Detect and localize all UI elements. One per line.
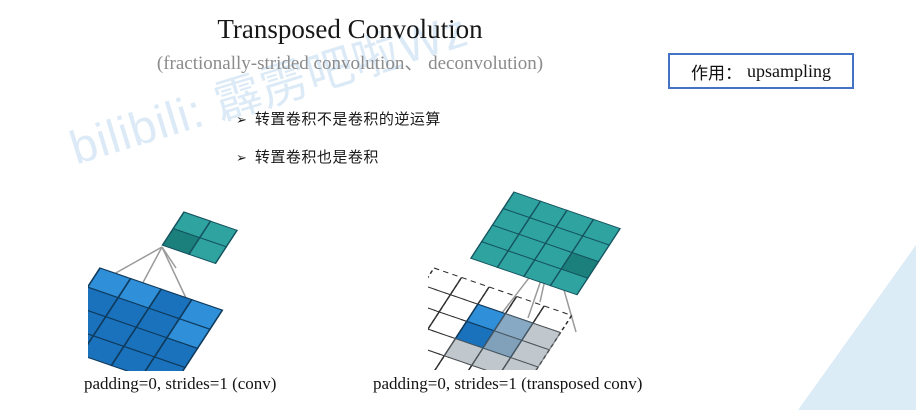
bullet-item-label: 转置卷积也是卷积 [255, 146, 379, 167]
bullet-item: ➢ 转置卷积也是卷积 [236, 146, 441, 167]
bullet-arrow-icon: ➢ [236, 113, 247, 128]
transposed-conv-diagram [428, 190, 648, 370]
upsampling-callout-box: 作用： upsampling [668, 53, 854, 89]
conv-diagram [88, 206, 288, 371]
bullet-item: ➢ 转置卷积不是卷积的逆运算 [236, 108, 441, 129]
conv-output-grid [162, 212, 237, 263]
bullet-item-label: 转置卷积不是卷积的逆运算 [255, 108, 441, 129]
transposed-conv-diagram-caption: padding=0, strides=1 (transposed conv) [373, 374, 642, 394]
transposed-conv-output-grid [471, 192, 620, 295]
callout-label-cn: 作用： [691, 59, 742, 84]
slide-canvas: bilibili: 霹雳吧啦Wz Transposed Convolution … [0, 0, 916, 410]
bullet-arrow-icon: ➢ [236, 151, 247, 166]
page-subtitle: (fractionally-strided convolution、 decon… [0, 48, 700, 75]
conv-diagram-caption: padding=0, strides=1 (conv) [84, 374, 276, 394]
conv-input-grid [88, 268, 222, 371]
callout-label-en: upsampling [747, 61, 831, 82]
corner-triangle-decoration [798, 245, 916, 410]
bullet-list: ➢ 转置卷积不是卷积的逆运算 ➢ 转置卷积也是卷积 [236, 108, 441, 184]
page-title: Transposed Convolution [0, 14, 700, 45]
